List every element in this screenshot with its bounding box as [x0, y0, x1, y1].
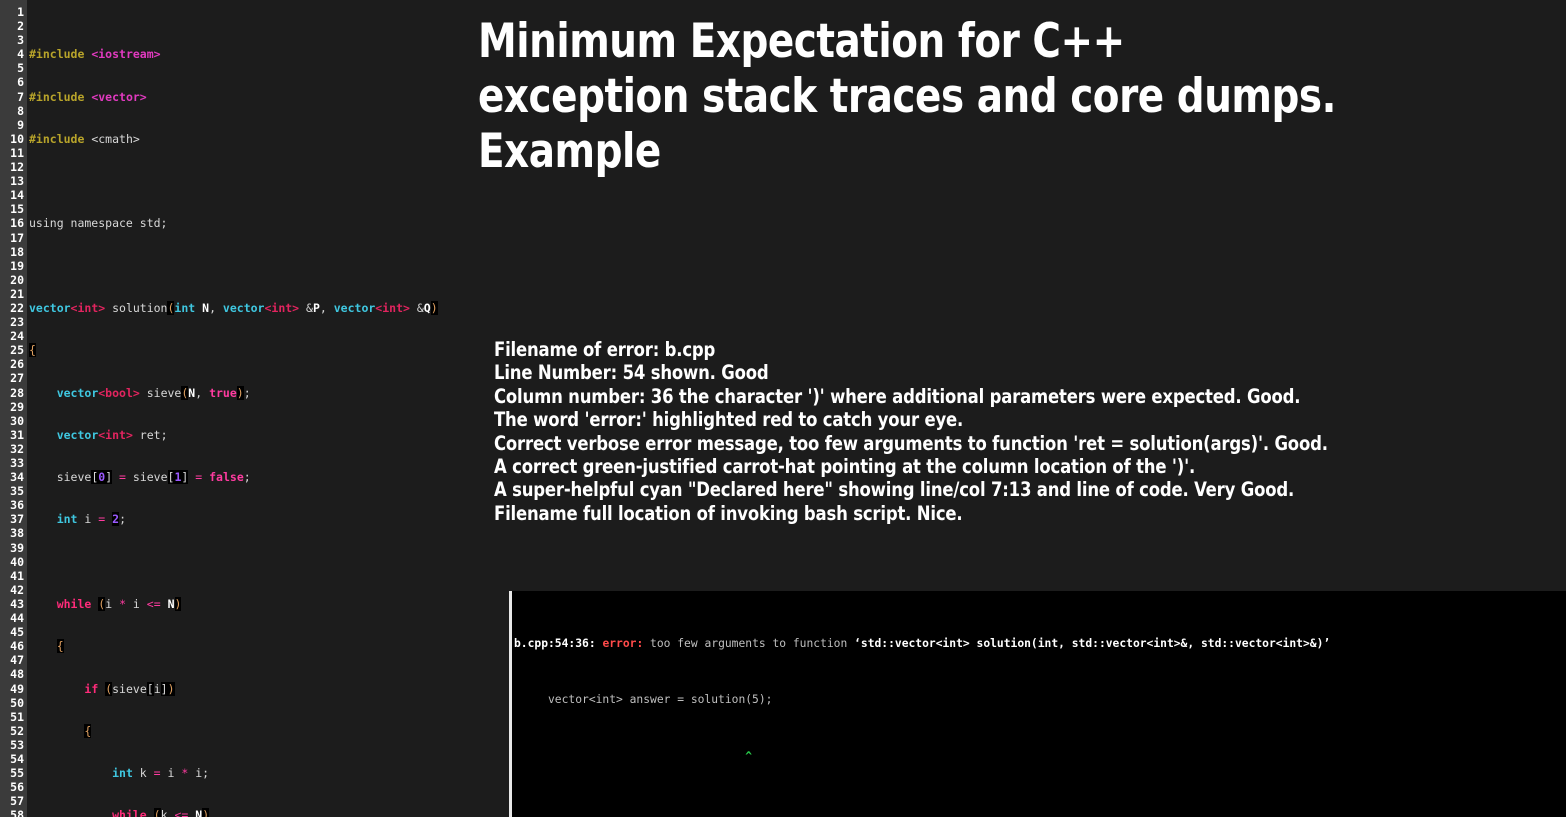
line-number: 35	[0, 484, 24, 498]
line-number: 23	[0, 315, 24, 329]
code-line: vector<int> solution(int N, vector<int> …	[29, 301, 500, 315]
code-line: {	[29, 724, 500, 738]
line-number: 27	[0, 371, 24, 385]
annotation-item: Correct verbose error message, too few a…	[494, 432, 1505, 455]
code-line: vector<bool> sieve(N, true);	[29, 386, 500, 400]
page-title: Minimum Expectation for C++ exception st…	[478, 14, 1462, 179]
code-line	[29, 259, 500, 273]
line-number: 31	[0, 428, 24, 442]
line-number: 7	[0, 90, 24, 104]
code-line: #include <cmath>	[29, 132, 500, 146]
line-number: 2	[0, 19, 24, 33]
line-number: 33	[0, 456, 24, 470]
annotation-item: Line Number: 54 shown. Good	[494, 361, 1505, 384]
line-number: 3	[0, 33, 24, 47]
code-editor-pane[interactable]: 1234567891011121314151617181920212223242…	[0, 0, 500, 817]
line-number: 55	[0, 766, 24, 780]
line-number: 40	[0, 555, 24, 569]
terminal-line-blank	[514, 807, 1566, 817]
code-line: sieve[0] = sieve[1] = false;	[29, 470, 500, 484]
annotation-item: Column number: 36 the character ')' wher…	[494, 385, 1505, 408]
line-number: 26	[0, 357, 24, 371]
code-line: {	[29, 639, 500, 653]
error-signature: ‘std::vector<int> solution(int, std::vec…	[854, 637, 1330, 650]
line-number: 57	[0, 794, 24, 808]
line-number: 18	[0, 245, 24, 259]
code-line	[29, 555, 500, 569]
title-line-1: Minimum Expectation for C++	[478, 14, 1462, 69]
line-number: 29	[0, 400, 24, 414]
line-number: 44	[0, 611, 24, 625]
line-number: 14	[0, 188, 24, 202]
line-number: 22	[0, 301, 24, 315]
line-number: 36	[0, 498, 24, 512]
line-number: 5	[0, 61, 24, 75]
line-number: 38	[0, 526, 24, 540]
line-number: 24	[0, 329, 24, 343]
title-line-3: Example	[478, 124, 1462, 179]
code-line: int k = i * i;	[29, 766, 500, 780]
line-number: 11	[0, 146, 24, 160]
line-number: 10	[0, 132, 24, 146]
code-line: int i = 2;	[29, 512, 500, 526]
line-number: 48	[0, 667, 24, 681]
line-number: 16	[0, 216, 24, 230]
line-number: 15	[0, 202, 24, 216]
error-location: b.cpp:54:36:	[514, 637, 596, 650]
line-number: 32	[0, 442, 24, 456]
line-number: 34	[0, 470, 24, 484]
line-number: 49	[0, 682, 24, 696]
code-line: {	[29, 343, 500, 357]
code-line: #include <vector>	[29, 90, 500, 104]
annotation-item: The word 'error:' highlighted red to cat…	[494, 408, 1505, 431]
line-number: 47	[0, 653, 24, 667]
line-number: 54	[0, 752, 24, 766]
terminal-line-caret: ^	[514, 750, 1566, 764]
code-text-area[interactable]: #include <iostream> #include <vector> #i…	[27, 0, 500, 817]
line-number: 50	[0, 696, 24, 710]
line-number: 8	[0, 104, 24, 118]
line-number: 1	[0, 5, 24, 19]
error-caret-marker: ^	[514, 750, 752, 763]
line-number: 41	[0, 569, 24, 583]
line-number: 12	[0, 160, 24, 174]
line-number: 42	[0, 583, 24, 597]
line-number: 51	[0, 710, 24, 724]
line-number: 4	[0, 47, 24, 61]
line-number: 53	[0, 738, 24, 752]
terminal-lines: b.cpp:54:36: error: too few arguments to…	[509, 594, 1566, 817]
line-number: 19	[0, 259, 24, 273]
line-number: 52	[0, 724, 24, 738]
terminal-line-error: b.cpp:54:36: error: too few arguments to…	[514, 637, 1566, 651]
line-number: 43	[0, 597, 24, 611]
terminal-output-pane[interactable]: b.cpp:54:36: error: too few arguments to…	[509, 591, 1566, 817]
terminal-line-source: vector<int> answer = solution(5);	[514, 693, 1566, 707]
line-number: 37	[0, 512, 24, 526]
error-message: too few arguments to function	[643, 637, 854, 650]
line-number: 9	[0, 118, 24, 132]
line-number: 30	[0, 414, 24, 428]
error-label: error:	[602, 637, 643, 650]
annotation-list: Filename of error: b.cpp Line Number: 54…	[494, 338, 1505, 525]
title-line-2: exception stack traces and core dumps.	[478, 69, 1462, 124]
line-number: 13	[0, 174, 24, 188]
line-number: 56	[0, 780, 24, 794]
line-number-gutter: 1234567891011121314151617181920212223242…	[0, 0, 27, 817]
line-number: 25	[0, 343, 24, 357]
annotation-item: Filename full location of invoking bash …	[494, 502, 1505, 525]
code-line	[29, 174, 500, 188]
line-number: 39	[0, 541, 24, 555]
annotation-item: Filename of error: b.cpp	[494, 338, 1505, 361]
line-number: 58	[0, 808, 24, 817]
code-line: #include <iostream>	[29, 47, 500, 61]
code-line: if (sieve[i])	[29, 682, 500, 696]
line-number: 20	[0, 273, 24, 287]
line-number: 6	[0, 75, 24, 89]
line-number: 45	[0, 625, 24, 639]
code-line: vector<int> ret;	[29, 428, 500, 442]
line-number: 21	[0, 287, 24, 301]
code-line: using namespace std;	[29, 216, 500, 230]
line-number: 17	[0, 231, 24, 245]
code-line: while (i * i <= N)	[29, 597, 500, 611]
annotation-item: A super-helpful cyan "Declared here" sho…	[494, 478, 1505, 501]
annotation-item: A correct green-justified carrot-hat poi…	[494, 455, 1505, 478]
line-number: 46	[0, 639, 24, 653]
code-line: while (k <= N)	[29, 808, 500, 817]
line-number: 28	[0, 386, 24, 400]
